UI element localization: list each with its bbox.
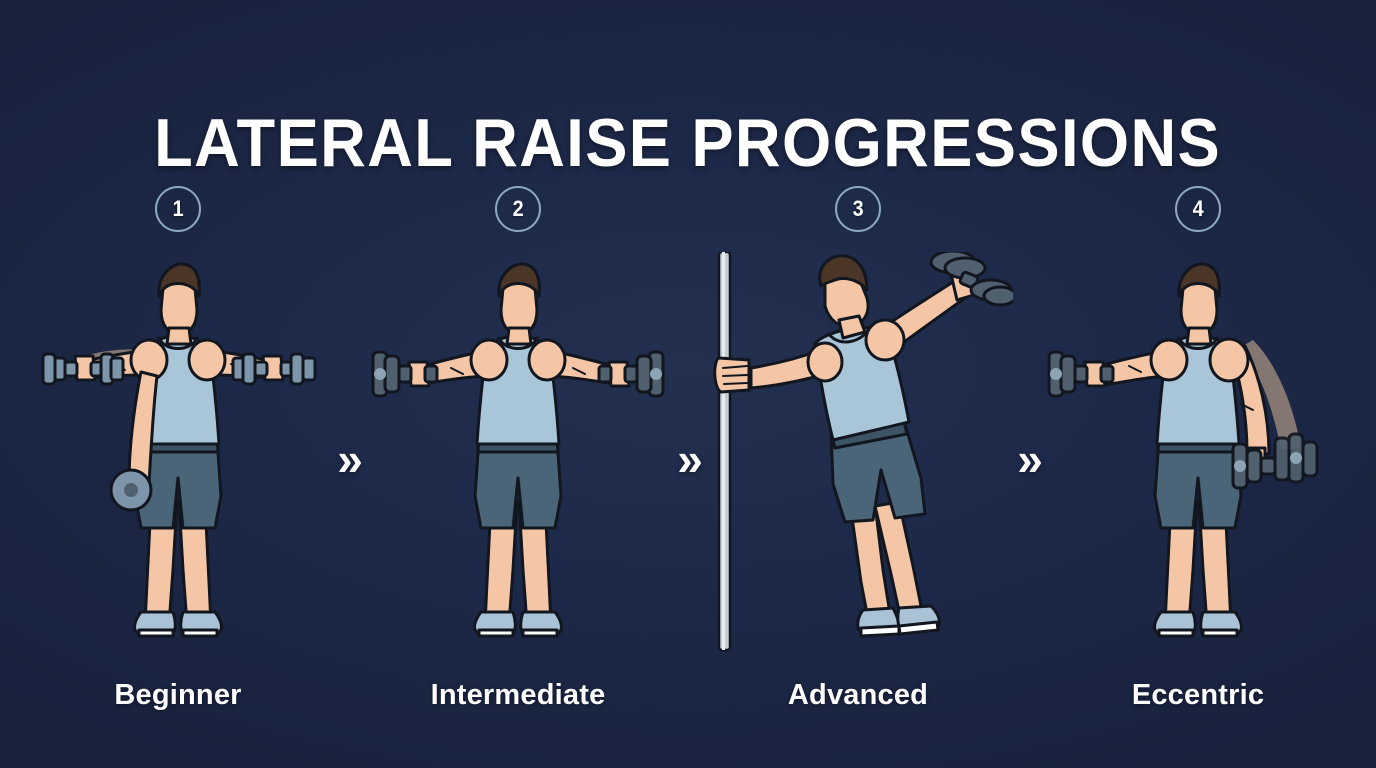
progression-steps-row: 1: [0, 178, 1376, 718]
lateral-raise-lowering-illustration: [1043, 252, 1353, 652]
step-label-1: Beginner: [114, 678, 241, 712]
page-title: LATERAL RAISE PROGRESSIONS: [154, 106, 1221, 180]
progression-arrow-2: »: [680, 178, 696, 718]
step-number-1: 1: [172, 198, 183, 220]
figure-intermediate: [356, 252, 680, 652]
figure-beginner: [16, 252, 340, 652]
step-number-2: 2: [512, 198, 523, 220]
figure-eccentric: [1036, 252, 1360, 652]
progression-step-3[interactable]: 3: [696, 178, 1020, 718]
leaning-single-arm-raise-illustration: [703, 252, 1013, 652]
step-label-3: Advanced: [788, 678, 928, 712]
step-number-3: 3: [852, 198, 863, 220]
standing-lateral-raise-full-illustration: [363, 252, 673, 652]
step-badge-4: 4: [1175, 186, 1221, 232]
progression-step-4[interactable]: 4: [1036, 178, 1360, 718]
step-badge-2: 2: [495, 186, 541, 232]
step-label-2: Intermediate: [431, 678, 606, 712]
figure-advanced: [696, 252, 1020, 652]
progression-arrow-3: »: [1020, 178, 1036, 718]
progression-step-1[interactable]: 1: [16, 178, 340, 718]
support-pole-icon: [719, 252, 730, 650]
progression-step-2[interactable]: 2: [356, 178, 680, 718]
step-badge-3: 3: [835, 186, 881, 232]
standing-lateral-raise-light-illustration: [23, 252, 333, 652]
step-label-4: Eccentric: [1132, 678, 1264, 712]
progression-arrow-1: »: [340, 178, 356, 718]
step-badge-1: 1: [155, 186, 201, 232]
step-number-4: 4: [1192, 198, 1203, 220]
infographic-canvas: LATERAL RAISE PROGRESSIONS 1: [0, 0, 1376, 768]
